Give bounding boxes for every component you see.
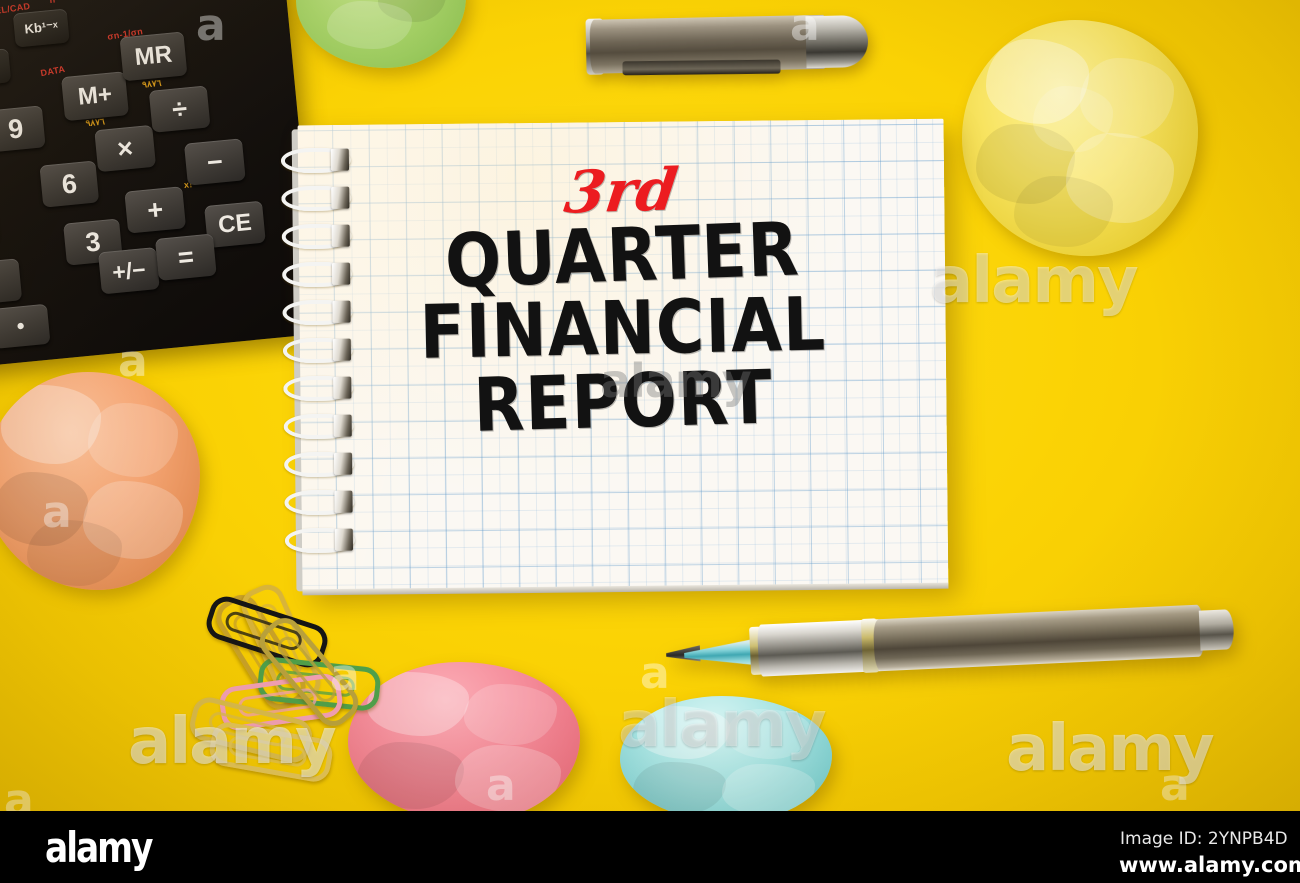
calculator-key-9[interactable]: 9: [0, 105, 46, 152]
pen-barrel: [873, 605, 1205, 672]
note-line-report: REPORT: [473, 362, 774, 441]
alamy-footer-bar: alamy Image ID: 2YNPB4D www.alamy.com: [0, 811, 1300, 883]
calculator-key-6[interactable]: 6: [39, 160, 99, 207]
calculator-key-plus[interactable]: +: [124, 186, 186, 233]
calculator-legend-n: n: [49, 0, 56, 5]
calculator: DEL/CAD n Σx x←m σn-1/σn DATA ٩٨٧٦ ٩٨٧٦ …: [0, 0, 319, 368]
pen-cap-clip: [622, 60, 780, 76]
notepad-spiral-binding: [281, 148, 351, 569]
pen-end-cap: [1199, 609, 1235, 651]
orange-paper-ball: [0, 372, 200, 590]
watermark-alamy-right: alamy: [930, 244, 1137, 318]
pen-cap-tip: [805, 15, 868, 68]
cyan-paper-ball: [620, 696, 832, 811]
pen-cap: [575, 3, 868, 83]
calculator-legend-data: DATA: [40, 64, 66, 78]
calculator-key-sign[interactable]: +/−: [98, 247, 160, 294]
watermark-letter-a-6: a: [640, 648, 670, 699]
calculator-key-mr[interactable]: MR: [120, 31, 188, 81]
calculator-key-kb[interactable]: Kb¹⁻ˣ: [13, 8, 70, 47]
calculator-key-decimal[interactable]: •: [0, 304, 51, 349]
calculator-key-ka[interactable]: Ka¹⁻ˣ: [0, 48, 11, 87]
watermark-alamy-bottom-right: alamy: [1006, 712, 1213, 786]
calculator-key-m-plus[interactable]: M+: [61, 71, 129, 121]
calculator-key-minus[interactable]: −: [184, 138, 246, 185]
yellow-paper-ball: [962, 20, 1198, 256]
paperclip-cluster: [196, 604, 386, 789]
watermark-letter-a-4: a: [4, 775, 34, 811]
screenshot-root: DEL/CAD n Σx x←m σn-1/σn DATA ٩٨٧٦ ٩٨٧٦ …: [0, 0, 1300, 883]
calculator-key-equals[interactable]: =: [155, 234, 217, 281]
image-id-label: Image ID: 2YNPB4D: [1120, 829, 1288, 849]
watermark-letter-a-9: a: [1160, 760, 1190, 811]
alamy-website-label: www.alamy.com: [1119, 853, 1300, 877]
rollerball-pen: [664, 591, 1235, 697]
stock-photo: DEL/CAD n Σx x←m σn-1/σn DATA ٩٨٧٦ ٩٨٧٦ …: [0, 0, 1300, 811]
paperclip-gold-5: [207, 720, 335, 785]
alamy-logo: alamy: [45, 827, 151, 869]
calculator-legend-arabic-1: ٩٨٧٦: [142, 78, 162, 91]
calculator-key-multiply[interactable]: ×: [94, 125, 156, 172]
notepad-handwriting: 3rd QUARTER FINANCIAL REPORT: [298, 119, 949, 592]
spiral-notepad: 3rd QUARTER FINANCIAL REPORT: [298, 119, 949, 592]
green-paper-ball: [296, 0, 466, 68]
calculator-key-divide[interactable]: ÷: [149, 85, 211, 132]
calculator-key-2[interactable]: 2: [0, 258, 22, 305]
calculator-body: DEL/CAD n Σx x←m σn-1/σn DATA ٩٨٧٦ ٩٨٧٦ …: [0, 0, 319, 368]
